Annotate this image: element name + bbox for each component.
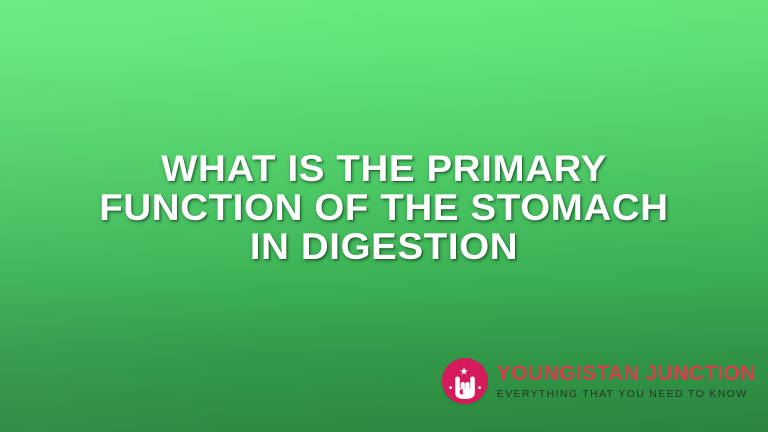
brand-logo: YOUNGISTAN JUNCTION EVERYTHING THAT YOU … xyxy=(442,358,756,404)
title-card-canvas: WHAT IS THE PRIMARY FUNCTION OF THE STOM… xyxy=(0,0,768,432)
page-title-line-3: IN DIGESTION xyxy=(10,228,759,265)
hand-rock-sign-icon xyxy=(442,358,488,404)
page-title: WHAT IS THE PRIMARY FUNCTION OF THE STOM… xyxy=(0,150,768,265)
brand-wordmark: YOUNGISTAN JUNCTION xyxy=(497,363,756,384)
page-title-line-1: WHAT IS THE PRIMARY xyxy=(10,150,759,187)
page-title-line-2: FUNCTION OF THE STOMACH xyxy=(10,189,759,226)
brand-tagline: EVERYTHING THAT YOU NEED TO KNOW xyxy=(497,389,756,400)
brand-logo-text: YOUNGISTAN JUNCTION EVERYTHING THAT YOU … xyxy=(497,363,756,400)
